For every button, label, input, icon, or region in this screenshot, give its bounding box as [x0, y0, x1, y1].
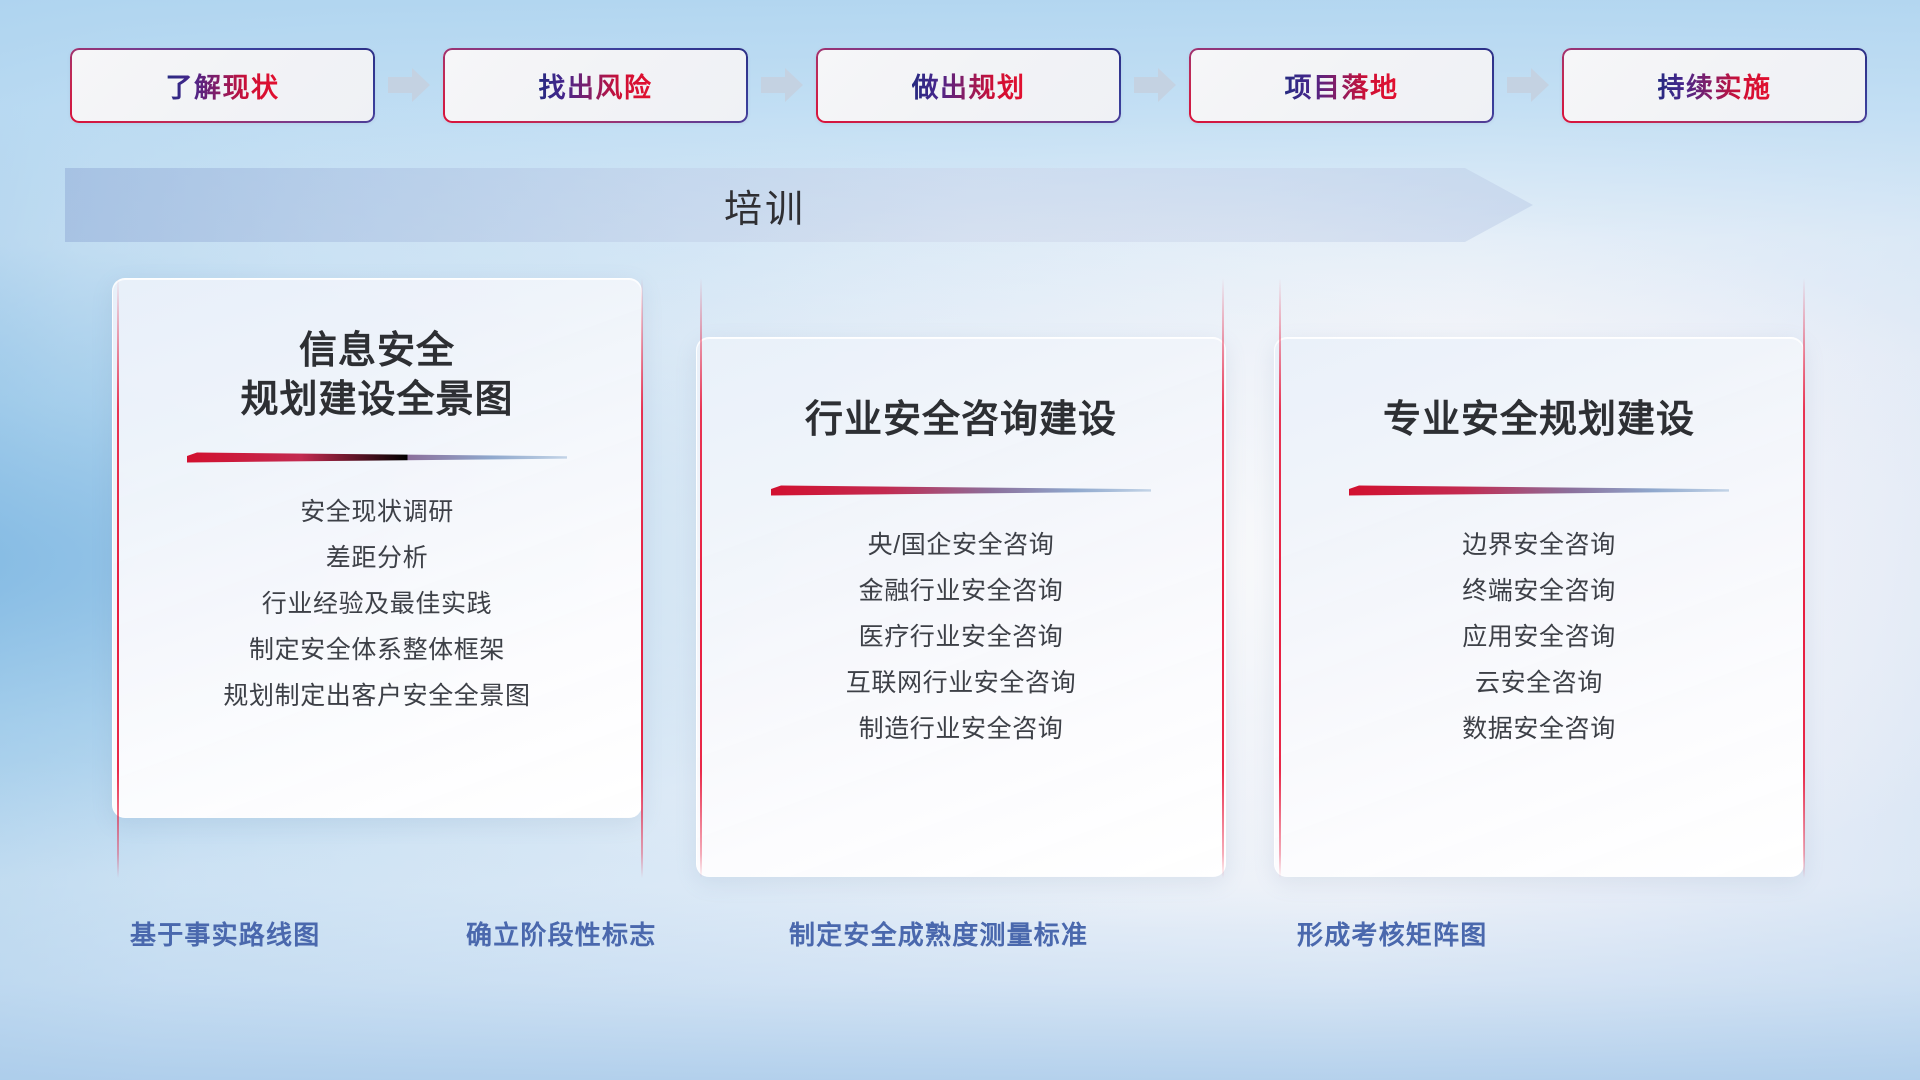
- card-accent-right-0: [641, 278, 643, 878]
- card-divider-0: [187, 452, 567, 465]
- step-label-1: 找出风险: [539, 66, 653, 105]
- list-item: 规划制定出客户安全全景图: [223, 681, 530, 711]
- card-list-0: 安全现状调研 差距分析 行业经验及最佳实践 制定安全体系整体框架 规划制定出客户…: [223, 497, 530, 711]
- card-1[interactable]: 行业安全咨询建设 央/国企安全咨询 金融行业安全咨询 医疗行业安全咨询: [696, 337, 1226, 877]
- list-item: 行业经验及最佳实践: [262, 589, 492, 619]
- card-divider-1: [771, 485, 1151, 498]
- list-item: 云安全咨询: [1475, 668, 1603, 698]
- bottom-label-2: 制定安全成熟度测量标准: [789, 915, 1088, 952]
- list-item: 差距分析: [326, 543, 428, 573]
- arrow-right-icon: [759, 65, 805, 105]
- bottom-label-0: 基于事实路线图: [130, 915, 320, 952]
- arrow-right-icon: [1132, 65, 1178, 105]
- card-divider-2: [1349, 485, 1729, 498]
- card-inner-0: 信息安全 规划建设全景图 安全现状调研 差距分析 行: [113, 279, 641, 817]
- list-item: 制造行业安全咨询: [859, 714, 1064, 744]
- cards-row: 信息安全 规划建设全景图 安全现状调研 差距分析 行: [0, 278, 1920, 878]
- card-accent-right-1: [1222, 278, 1224, 878]
- card-2[interactable]: 专业安全规划建设 边界安全咨询 终端安全咨询 应用安全咨询 云: [1274, 337, 1804, 877]
- step-box-3[interactable]: 项目落地: [1189, 48, 1494, 123]
- card-accent-right-2: [1803, 278, 1805, 878]
- process-steps-row: 了解现状 找出风险 做出规划 项目落地 持续实施: [0, 0, 1920, 170]
- step-label-2: 做出规划: [912, 66, 1026, 105]
- step-wrapper-4: 持续实施: [1562, 48, 1867, 123]
- list-item: 边界安全咨询: [1462, 530, 1616, 560]
- list-item: 终端安全咨询: [1462, 576, 1616, 606]
- step-wrapper-1: 找出风险: [443, 48, 748, 123]
- card-list-1: 央/国企安全咨询 金融行业安全咨询 医疗行业安全咨询 互联网行业安全咨询 制造行…: [846, 530, 1076, 744]
- card-accent-left-0: [117, 278, 119, 878]
- list-item: 制定安全体系整体框架: [249, 635, 505, 665]
- card-accent-left-2: [1279, 278, 1281, 878]
- step-box-1[interactable]: 找出风险: [443, 48, 748, 123]
- step-box-4[interactable]: 持续实施: [1562, 48, 1867, 123]
- list-item: 金融行业安全咨询: [859, 576, 1064, 606]
- bottom-labels-row: 基于事实路线图 确立阶段性标志 制定安全成熟度测量标准 形成考核矩阵图: [0, 915, 1920, 975]
- training-banner-arrow: 培训: [65, 168, 1533, 242]
- step-box-2[interactable]: 做出规划: [816, 48, 1121, 123]
- card-title-0: 信息安全 规划建设全景图: [240, 327, 513, 426]
- card-accent-left-1: [700, 278, 702, 878]
- step-wrapper-2: 做出规划: [816, 48, 1121, 123]
- list-item: 应用安全咨询: [1462, 622, 1616, 652]
- card-inner-1: 行业安全咨询建设 央/国企安全咨询 金融行业安全咨询 医疗行业安全咨询: [697, 338, 1225, 876]
- arrow-right-icon: [1505, 65, 1551, 105]
- bottom-label-3: 形成考核矩阵图: [1297, 915, 1487, 952]
- step-wrapper-3: 项目落地: [1189, 48, 1494, 123]
- list-item: 医疗行业安全咨询: [859, 622, 1064, 652]
- list-item: 安全现状调研: [300, 497, 454, 527]
- arrow-right-icon: [386, 65, 432, 105]
- card-list-2: 边界安全咨询 终端安全咨询 应用安全咨询 云安全咨询 数据安全咨询: [1462, 530, 1616, 744]
- card-title-2: 专业安全规划建设: [1383, 396, 1695, 445]
- banner-title: 培训: [65, 168, 1465, 242]
- list-item: 央/国企安全咨询: [868, 530, 1055, 560]
- list-item: 数据安全咨询: [1462, 714, 1616, 744]
- step-label-0: 了解现状: [166, 66, 280, 105]
- card-inner-2: 专业安全规划建设 边界安全咨询 终端安全咨询 应用安全咨询 云: [1275, 338, 1803, 876]
- card-0[interactable]: 信息安全 规划建设全景图 安全现状调研 差距分析 行: [112, 278, 642, 818]
- list-item: 互联网行业安全咨询: [846, 668, 1076, 698]
- step-label-4: 持续实施: [1658, 66, 1772, 105]
- step-label-3: 项目落地: [1285, 66, 1399, 105]
- step-box-0[interactable]: 了解现状: [70, 48, 375, 123]
- step-wrapper-0: 了解现状: [70, 48, 375, 123]
- card-title-1: 行业安全咨询建设: [805, 396, 1117, 445]
- bottom-label-1: 确立阶段性标志: [466, 915, 656, 952]
